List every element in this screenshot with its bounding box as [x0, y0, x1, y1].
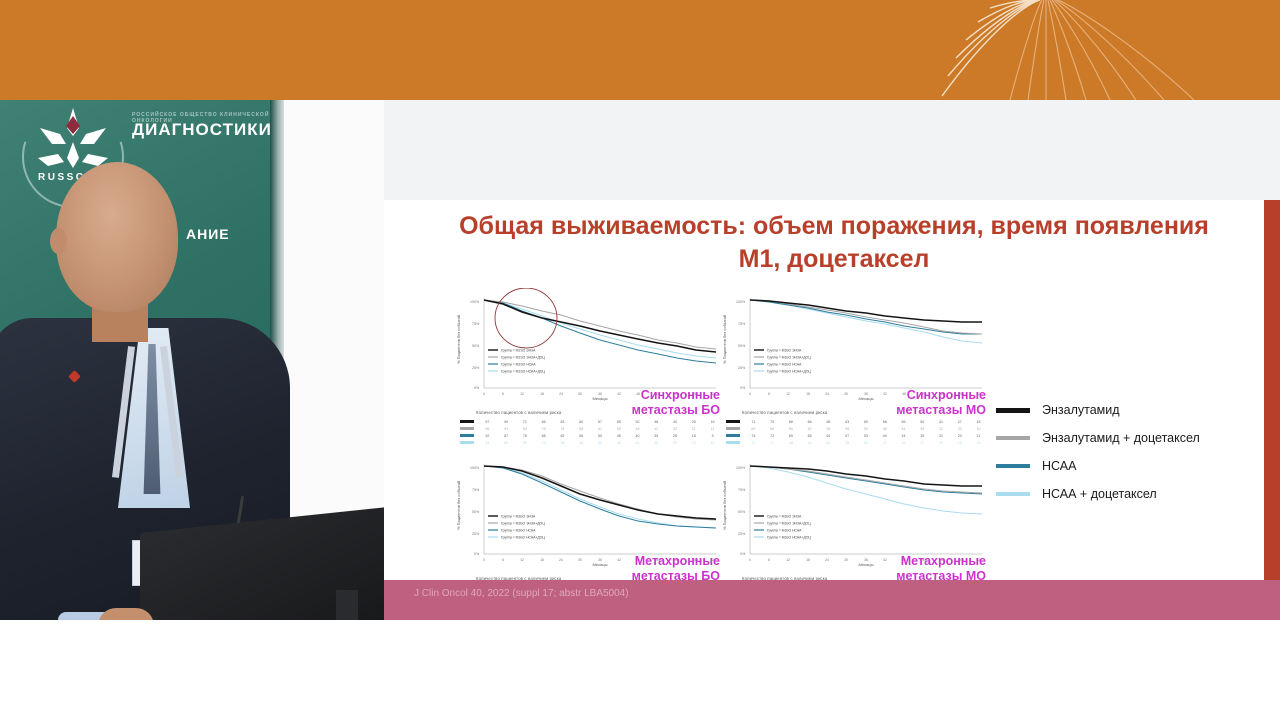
risk-table: 71706866656360585550412715 6968656259565… — [726, 418, 988, 446]
slide-title: Общая выживаемость: объем поражения, вре… — [444, 210, 1224, 276]
risk-cell: 60 — [857, 420, 876, 424]
risk-cells: 94898072655852464136291910 — [478, 441, 722, 445]
risk-cell: 74 — [744, 434, 763, 438]
risk-cells: 95918478746861554842332111 — [478, 427, 722, 431]
risk-cell: 19 — [950, 441, 969, 445]
risk-cells: 71706866656360585550412715 — [744, 420, 988, 424]
svg-text:Группа = M1БО НСАА+ДОЦ: Группа = M1БО НСАА+ДОЦ — [767, 536, 811, 540]
risk-cell: 68 — [534, 434, 553, 438]
inline-legend: Группа = M1БО ЭНЗА Группа = M1БО ЭНЗА+ДО… — [754, 515, 811, 540]
y-axis-label: % Пациентов без событий — [456, 481, 461, 530]
legend-swatch-black — [996, 408, 1030, 413]
risk-cell: 35 — [647, 434, 666, 438]
risk-swatch — [460, 427, 474, 430]
backdrop-secondary-line: АНИЕ — [186, 226, 230, 242]
svg-text:Группа = M1SO ЭНЗА: Группа = M1SO ЭНЗА — [501, 349, 536, 353]
risk-cell: 10 — [969, 441, 988, 445]
legend-item-enzalutamide-docetaxel: Энзалутамид + доцетаксел — [996, 424, 1246, 452]
risk-cell: 84 — [516, 427, 535, 431]
panel-caption: Синхронные метастазы БО — [632, 388, 720, 419]
svg-text:75%: 75% — [738, 488, 746, 492]
svg-text:25%: 25% — [738, 366, 746, 370]
risk-cell: 19 — [684, 441, 703, 445]
svg-text:Группа = M1БО НСАА+ДОЦ: Группа = M1БО НСАА+ДОЦ — [501, 536, 545, 540]
risk-cell: 90 — [497, 420, 516, 424]
risk-cell: 10 — [969, 427, 988, 431]
risk-cell: 65 — [782, 427, 801, 431]
svg-text:42: 42 — [883, 558, 887, 562]
risk-cell: 40 — [628, 434, 647, 438]
risk-cell: 25 — [684, 420, 703, 424]
risk-cell: 50 — [591, 434, 610, 438]
risk-cell: 63 — [838, 420, 857, 424]
svg-text:30: 30 — [578, 392, 582, 396]
risk-cell: 55 — [609, 420, 628, 424]
svg-text:100%: 100% — [470, 300, 480, 304]
slide-legend: Энзалутамид Энзалутамид + доцетаксел НСА… — [996, 396, 1246, 508]
svg-text:18: 18 — [540, 392, 544, 396]
risk-cell: 66 — [800, 420, 819, 424]
monitor-stand — [336, 590, 358, 620]
speaker-ear — [50, 228, 67, 254]
risk-cell: 97 — [478, 420, 497, 424]
svg-text:50%: 50% — [738, 510, 746, 514]
y-axis-label: % Пациентов без событий — [456, 315, 461, 364]
risk-row: 9287766862565045403528189 — [460, 432, 722, 439]
svg-text:Группа = M1БО ЭНЗА: Группа = M1БО ЭНЗА — [767, 349, 802, 353]
legend-label: НСАА + доцетаксел — [1042, 487, 1157, 501]
svg-text:Группа = M1БО НСАА: Группа = M1БО НСАА — [501, 529, 536, 533]
risk-cell: 58 — [875, 420, 894, 424]
risk-table: 97907166636057555248402516 9591847874686… — [460, 418, 722, 446]
svg-text:100%: 100% — [470, 466, 480, 470]
risk-cell: 51 — [857, 441, 876, 445]
svg-text:Группа = M1SO НСАА+ДОЦ: Группа = M1SO НСАА+ДОЦ — [501, 370, 545, 374]
risk-cell: 48 — [647, 420, 666, 424]
presentation-slide: Общая выживаемость: объем поражения, вре… — [384, 200, 1264, 620]
svg-text:Группа = M1БО ЭНЗА+ДОЦ: Группа = M1БО ЭНЗА+ДОЦ — [767, 356, 811, 360]
legend-item-nsaa: НСАА — [996, 452, 1246, 480]
risk-cell: 87 — [497, 434, 516, 438]
svg-text:25%: 25% — [472, 532, 480, 536]
light-rays-graphic — [860, 0, 1280, 100]
risk-cell: 47 — [875, 441, 894, 445]
svg-text:25%: 25% — [472, 366, 480, 370]
svg-text:Группа = M1SO ЭНЗА+ДОЦ: Группа = M1SO ЭНЗА+ДОЦ — [501, 356, 545, 360]
risk-cell: 95 — [478, 427, 497, 431]
risk-cell: 39 — [913, 434, 932, 438]
speaker-head — [56, 162, 178, 312]
risk-cell: 69 — [744, 427, 763, 431]
risk-cell: 56 — [838, 441, 857, 445]
svg-text:50%: 50% — [472, 510, 480, 514]
svg-text:12: 12 — [520, 558, 524, 562]
risk-cell: 29 — [932, 441, 951, 445]
risk-row: 95918478746861554842332111 — [460, 425, 722, 432]
svg-text:100%: 100% — [736, 466, 746, 470]
risk-cell: 61 — [591, 427, 610, 431]
svg-text:Группа = M1БО ЭНЗА+ДОЦ: Группа = M1БО ЭНЗА+ДОЦ — [767, 522, 811, 526]
svg-text:42: 42 — [883, 392, 887, 396]
legend-label: Энзалутамид + доцетаксел — [1042, 431, 1200, 445]
legend-swatch-lightblue — [996, 492, 1030, 496]
risk-cell: 42 — [894, 441, 913, 445]
svg-text:42: 42 — [617, 392, 621, 396]
risk-cell: 68 — [763, 427, 782, 431]
x-axis-label: Месяцы — [593, 562, 608, 567]
risk-cell: 37 — [913, 441, 932, 445]
legend-label: НСАА — [1042, 459, 1076, 473]
risk-cells: 69686562595652484439312010 — [744, 427, 988, 431]
risk-cell: 62 — [553, 434, 572, 438]
risk-cell: 68 — [782, 441, 801, 445]
risk-swatch — [726, 434, 740, 437]
svg-text:25%: 25% — [738, 532, 746, 536]
risk-cell: 63 — [553, 420, 572, 424]
risk-cell: 31 — [932, 434, 951, 438]
sponsor-footer: ГОРОДСКАЯ КЛИНИЧЕСКАЯ ОНКОЛОГИЧЕСКАЯ БОЛ… — [0, 620, 1280, 720]
svg-text:12: 12 — [520, 392, 524, 396]
x-axis-label: Месяцы — [593, 396, 608, 401]
risk-cell: 65 — [819, 420, 838, 424]
risk-cell: 92 — [478, 434, 497, 438]
svg-text:18: 18 — [806, 392, 810, 396]
svg-text:0: 0 — [749, 392, 751, 396]
risk-cell: 70 — [763, 420, 782, 424]
risk-cell: 58 — [572, 441, 591, 445]
risk-cell: 57 — [838, 434, 857, 438]
y-axis-label: % Пациентов без событий — [722, 315, 727, 364]
x-axis-label: Месяцы — [859, 562, 874, 567]
svg-text:50%: 50% — [738, 344, 746, 348]
risk-cell: 60 — [819, 441, 838, 445]
svg-text:24: 24 — [825, 392, 829, 396]
risk-cell: 76 — [516, 434, 535, 438]
risk-swatch — [460, 420, 474, 423]
risk-cell: 53 — [857, 434, 876, 438]
risk-cell: 20 — [950, 434, 969, 438]
caption-line-2: метастазы МО — [896, 403, 986, 418]
risk-cell: 72 — [744, 441, 763, 445]
risk-cell: 31 — [932, 427, 951, 431]
risk-cell: 65 — [800, 434, 819, 438]
risk-cell: 41 — [932, 420, 951, 424]
svg-text:75%: 75% — [738, 322, 746, 326]
risk-cell: 52 — [591, 441, 610, 445]
risk-cell: 18 — [684, 434, 703, 438]
risk-cell: 41 — [628, 441, 647, 445]
risk-cell: 28 — [666, 434, 685, 438]
speaker-video-panel: RUSSCO РОССИЙСКОЕ ОБЩЕСТВО КЛИНИЧЕСКОЙ О… — [0, 100, 384, 620]
risk-cell: 66 — [534, 420, 553, 424]
svg-text:30: 30 — [844, 392, 848, 396]
svg-text:Группа = M1БО НСАА+ДОЦ: Группа = M1БО НСАА+ДОЦ — [767, 370, 811, 374]
svg-text:12: 12 — [786, 392, 790, 396]
svg-text:0%: 0% — [474, 552, 480, 556]
risk-cell: 71 — [516, 420, 535, 424]
svg-text:0: 0 — [483, 558, 485, 562]
risk-cell: 71 — [763, 441, 782, 445]
risk-cell: 89 — [497, 441, 516, 445]
risk-cell: 52 — [628, 420, 647, 424]
caption-line-1: Метахронные — [632, 554, 720, 569]
risk-cell: 11 — [969, 434, 988, 438]
risk-cell: 44 — [894, 427, 913, 431]
risk-row: 69686562595652484439312010 — [726, 425, 988, 432]
caption-line-2: метастазы БО — [632, 403, 720, 418]
speaker-hand — [98, 608, 154, 620]
svg-text:42: 42 — [617, 558, 621, 562]
risk-cell: 72 — [763, 434, 782, 438]
risk-cell: 21 — [684, 427, 703, 431]
citation-text: J Clin Oncol 40, 2022 (suppl 17; abstr L… — [414, 588, 629, 599]
risk-cell: 74 — [553, 427, 572, 431]
svg-text:Группа = M1БО НСАА: Группа = M1БО НСАА — [767, 363, 802, 367]
svg-text:18: 18 — [540, 558, 544, 562]
risk-cells: 97907166636057555248402516 — [478, 420, 722, 424]
risk-cell: 46 — [609, 441, 628, 445]
svg-text:0%: 0% — [740, 552, 746, 556]
caption-line-1: Синхронные — [896, 388, 986, 403]
svg-text:Группа = M1БО ЭНЗА: Группа = M1БО ЭНЗА — [767, 515, 802, 519]
svg-text:6: 6 — [502, 558, 504, 562]
svg-text:30: 30 — [578, 558, 582, 562]
risk-cell: 59 — [819, 427, 838, 431]
risk-cell: 80 — [516, 441, 535, 445]
svg-text:12: 12 — [786, 558, 790, 562]
risk-row: 97907166636057555248402516 — [460, 418, 722, 425]
y-axis-label: % Пациентов без событий — [722, 481, 727, 530]
risk-cell: 65 — [553, 441, 572, 445]
risk-cell: 40 — [666, 420, 685, 424]
risk-swatch — [726, 420, 740, 423]
risk-cell: 29 — [666, 441, 685, 445]
caption-line-1: Синхронные — [632, 388, 720, 403]
risk-cell: 60 — [572, 420, 591, 424]
risk-cell: 57 — [591, 420, 610, 424]
svg-text:6: 6 — [768, 558, 770, 562]
risk-cell: 45 — [609, 434, 628, 438]
legend-swatch-gray — [996, 436, 1030, 440]
risk-cell: 48 — [875, 427, 894, 431]
svg-text:24: 24 — [559, 392, 563, 396]
svg-text:0: 0 — [483, 392, 485, 396]
backdrop-main-line: ДИАГНОСТИКИ — [132, 120, 272, 140]
risk-table-title: Количество пациентов с наличием риска — [742, 410, 827, 415]
inline-legend: Группа = M1SO ЭНЗА Группа = M1SO ЭНЗА+ДО… — [488, 349, 545, 374]
svg-text:Группа = M1SO НСАА: Группа = M1SO НСАА — [501, 363, 536, 367]
risk-cell: 56 — [838, 427, 857, 431]
risk-swatch — [460, 441, 474, 444]
risk-cell: 33 — [666, 427, 685, 431]
chart-panel-synchronous-high-volume: % Пациентов без событий 100% 75% 50% 25%… — [454, 288, 722, 448]
risk-cell: 36 — [647, 441, 666, 445]
legend-item-nsaa-docetaxel: НСАА + доцетаксел — [996, 480, 1246, 508]
top-orange-banner — [0, 0, 1280, 100]
risk-row: 74726965615753494439312011 — [726, 432, 988, 439]
risk-cell: 55 — [894, 420, 913, 424]
svg-text:0%: 0% — [740, 386, 746, 390]
risk-cell: 44 — [894, 434, 913, 438]
svg-text:Группа = M1БО ЭНЗА+ДОЦ: Группа = M1БО ЭНЗА+ДОЦ — [501, 522, 545, 526]
svg-text:6: 6 — [502, 392, 504, 396]
risk-cell: 62 — [800, 427, 819, 431]
caption-line-1: Метахронные — [896, 554, 986, 569]
x-axis-label: Месяцы — [859, 396, 874, 401]
risk-cell: 68 — [782, 420, 801, 424]
chart-panel-synchronous-low-volume: % Пациентов без событий 100% 75% 50% 25%… — [720, 288, 988, 448]
citation-strip: J Clin Oncol 40, 2022 (suppl 17; abstr L… — [384, 580, 1280, 620]
risk-cells: 9287766862565045403528189 — [478, 434, 722, 438]
risk-cell: 48 — [628, 427, 647, 431]
risk-cell: 39 — [913, 427, 932, 431]
svg-text:75%: 75% — [472, 322, 480, 326]
legend-item-enzalutamide: Энзалутамид — [996, 396, 1246, 424]
risk-row: 72716864605651474237291910 — [726, 439, 988, 446]
inline-legend: Группа = M1БО ЭНЗА Группа = M1БО ЭНЗА+ДО… — [488, 515, 545, 540]
risk-row: 94898072655852464136291910 — [460, 439, 722, 446]
svg-text:24: 24 — [559, 558, 563, 562]
svg-text:0%: 0% — [474, 386, 480, 390]
svg-text:Группа = M1БО ЭНЗА: Группа = M1БО ЭНЗА — [501, 515, 536, 519]
svg-text:30: 30 — [844, 558, 848, 562]
risk-cells: 72716864605651474237291910 — [744, 441, 988, 445]
svg-text:6: 6 — [768, 392, 770, 396]
risk-cell: 69 — [782, 434, 801, 438]
risk-cell: 61 — [819, 434, 838, 438]
svg-text:0: 0 — [749, 558, 751, 562]
risk-table-title: Количество пациентов с наличием риска — [476, 410, 561, 415]
risk-cell: 78 — [534, 427, 553, 431]
risk-cell: 56 — [572, 434, 591, 438]
panel-caption: Синхронные метастазы МО — [896, 388, 986, 419]
svg-text:100%: 100% — [736, 300, 746, 304]
risk-cell: 64 — [800, 441, 819, 445]
risk-swatch — [726, 441, 740, 444]
svg-text:18: 18 — [806, 558, 810, 562]
risk-cell: 94 — [478, 441, 497, 445]
risk-cell: 68 — [572, 427, 591, 431]
risk-row: 71706866656360585550412715 — [726, 418, 988, 425]
risk-cell: 49 — [875, 434, 894, 438]
risk-cell: 15 — [969, 420, 988, 424]
legend-label: Энзалутамид — [1042, 403, 1120, 417]
svg-text:75%: 75% — [472, 488, 480, 492]
svg-text:50%: 50% — [472, 344, 480, 348]
slide-accent-bar — [1264, 200, 1280, 620]
risk-cell: 20 — [950, 427, 969, 431]
risk-cell: 72 — [534, 441, 553, 445]
risk-cells: 74726965615753494439312011 — [744, 434, 988, 438]
risk-cell: 27 — [950, 420, 969, 424]
risk-swatch — [460, 434, 474, 437]
video-stage: RUSSCO РОССИЙСКОЕ ОБЩЕСТВО КЛИНИЧЕСКОЙ О… — [0, 100, 1280, 620]
legend-swatch-teal — [996, 464, 1030, 468]
risk-cell: 52 — [857, 427, 876, 431]
risk-cell: 55 — [609, 427, 628, 431]
risk-cell: 50 — [913, 420, 932, 424]
svg-text:Группа = M1БО НСАА: Группа = M1БО НСАА — [767, 529, 802, 533]
risk-cell: 71 — [744, 420, 763, 424]
risk-swatch — [726, 427, 740, 430]
risk-cell: 91 — [497, 427, 516, 431]
risk-cell: 42 — [647, 427, 666, 431]
svg-text:24: 24 — [825, 558, 829, 562]
inline-legend: Группа = M1БО ЭНЗА Группа = M1БО ЭНЗА+ДО… — [754, 349, 811, 374]
